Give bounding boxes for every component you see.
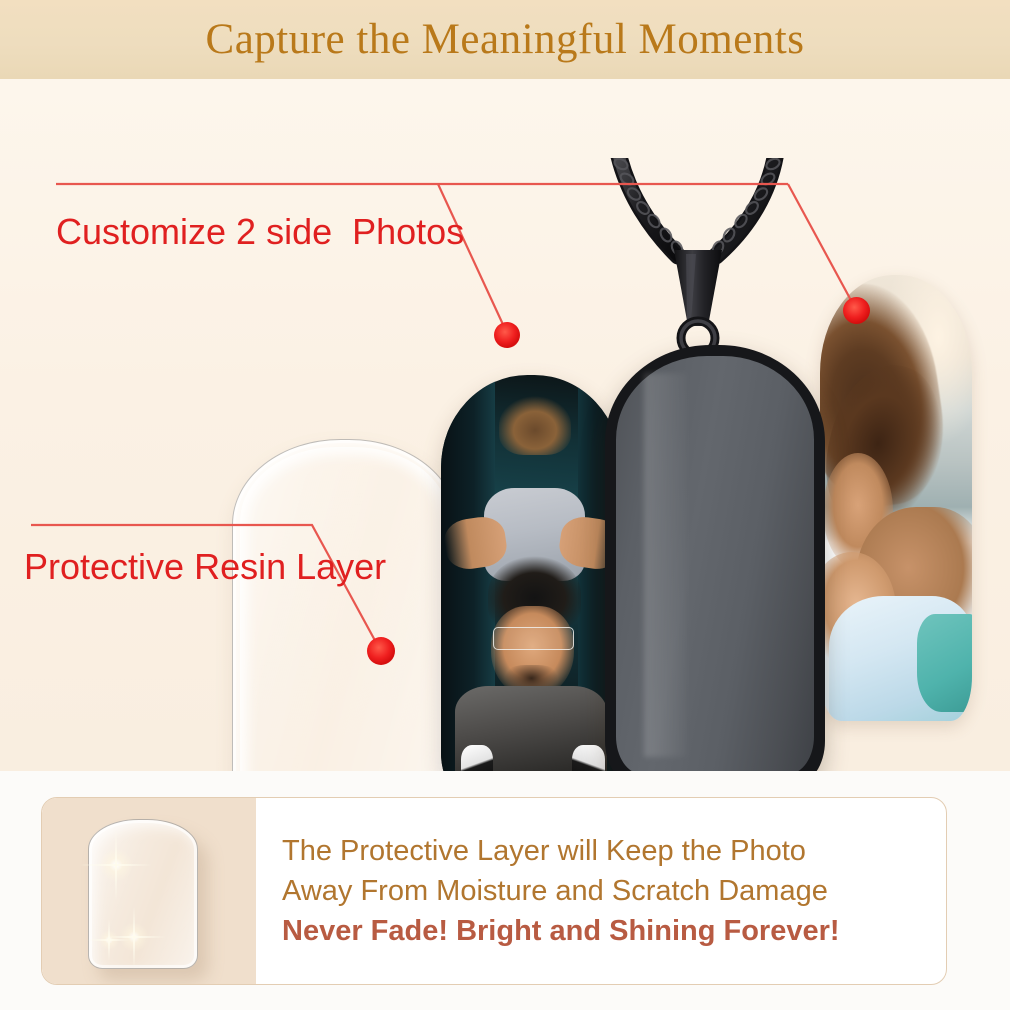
sparkle-icon-top [99,848,133,882]
info-line-3: Never Fade! Bright and Shining Forever! [282,911,930,951]
toddler-shoe-right [572,745,604,771]
callout-dot-right-photo [843,297,870,324]
chain-strand-left [613,158,685,256]
eyeglasses [493,627,574,650]
toddler-face [500,425,567,496]
rope-chain-necklace [600,158,800,358]
clear-resin-tag-thumb [88,819,198,969]
sparkle-icon-bottom [119,922,149,952]
black-tag-face [616,356,814,771]
hero-section: Customize 2 side Photos Protective Resin… [0,79,1010,771]
info-line-1: The Protective Layer will Keep the Photo [282,831,930,871]
protective-layer-description: The Protective Layer will Keep the Photo… [256,831,946,951]
photo-dog-tag-mother-child [820,275,972,721]
header-banner: Capture the Meaningful Moments [0,0,1010,79]
sparkle-icon-bottom-left [99,930,119,950]
info-line-2: Away From Moisture and Scratch Damage [282,871,930,911]
teal-fabric [917,614,972,712]
page-title: Capture the Meaningful Moments [0,0,1010,79]
resin-inner-glow [240,447,450,771]
callout-dot-left-photo [494,322,520,348]
blank-black-dog-tag [605,345,825,771]
callout-dot-resin-layer [367,637,395,665]
protective-layer-thumbnail [42,797,256,985]
toddler-shoe-left [461,745,493,771]
photo-dog-tag-father-child [441,375,621,771]
chain-bail [674,250,722,326]
annotation-protective-resin: Protective Resin Layer [24,546,386,588]
product-infographic: Capture the Meaningful Moments [0,0,1010,1010]
black-tag-sheen [644,373,688,758]
chain-strand-right [711,158,782,256]
annotation-customize-photos: Customize 2 side Photos [56,211,464,253]
transparent-resin-dog-tag [232,439,458,771]
protective-layer-info-card: The Protective Layer will Keep the Photo… [41,797,947,985]
